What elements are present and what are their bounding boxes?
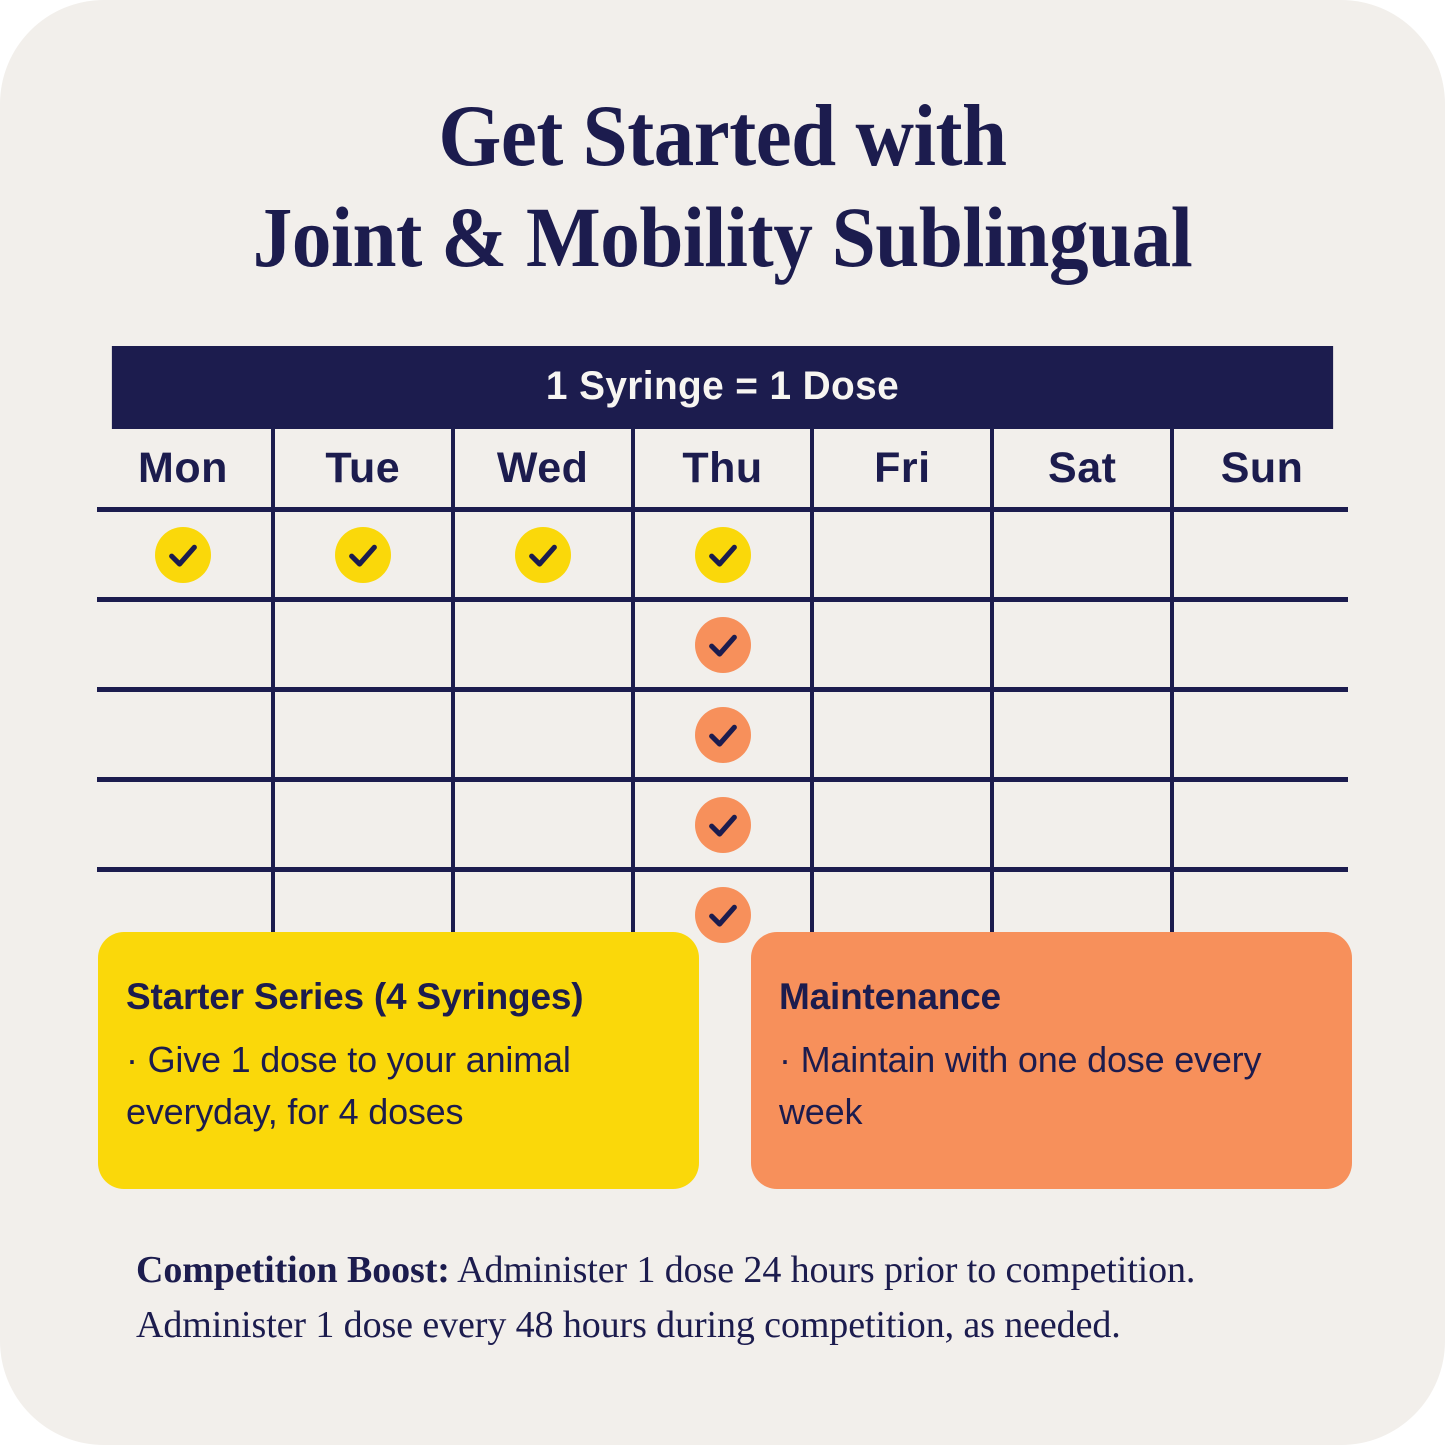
check-icon: [346, 538, 380, 572]
dose-cell-mon-week3[interactable]: [93, 692, 273, 777]
dose-cell-sat-week4[interactable]: [992, 782, 1172, 867]
check-icon: [166, 538, 200, 572]
maintenance-dose-badge: [695, 797, 751, 853]
day-header-label: Thu: [682, 444, 762, 493]
title-line-2: Joint & Mobility Sublingual: [58, 188, 1387, 288]
dose-cell-thu-week3[interactable]: [633, 692, 813, 777]
starter-dose-badge: [155, 527, 211, 583]
dose-cell-sun-week1[interactable]: [1172, 512, 1352, 597]
table-row: [93, 692, 1352, 777]
day-header-wed: Wed: [453, 429, 633, 507]
dose-cell-fri-week4[interactable]: [812, 782, 992, 867]
starter-dose-badge: [695, 527, 751, 583]
day-header-thu: Thu: [633, 429, 813, 507]
dose-cell-tue-week4[interactable]: [273, 782, 453, 867]
table-row: [93, 782, 1352, 867]
dose-cell-mon-week4[interactable]: [93, 782, 273, 867]
check-icon: [706, 718, 740, 752]
maintenance-callout-title: Maintenance: [779, 976, 1318, 1018]
infographic-card: Get Started with Joint & Mobility Sublin…: [0, 0, 1445, 1445]
table-body: [93, 512, 1352, 957]
day-header-label: Wed: [497, 444, 589, 493]
dose-cell-sat-week1[interactable]: [992, 512, 1172, 597]
starter-callout: Starter Series (4 Syringes)· Give 1 dose…: [98, 932, 699, 1189]
page-title: Get Started with Joint & Mobility Sublin…: [0, 0, 1445, 288]
title-line-1: Get Started with: [58, 86, 1387, 188]
dose-cell-tue-week3[interactable]: [273, 692, 453, 777]
maintenance-dose-badge: [695, 617, 751, 673]
dose-cell-mon-week1[interactable]: [93, 512, 273, 597]
syringe-banner: 1 Syringe = 1 Dose: [112, 346, 1333, 429]
table-row: [93, 602, 1352, 687]
dose-cell-tue-week1[interactable]: [273, 512, 453, 597]
callout-row: Starter Series (4 Syringes)· Give 1 dose…: [98, 932, 1352, 1189]
dose-cell-sun-week3[interactable]: [1172, 692, 1352, 777]
dose-cell-thu-week1[interactable]: [633, 512, 813, 597]
day-header-label: Sun: [1221, 444, 1304, 493]
dose-cell-wed-week2[interactable]: [453, 602, 633, 687]
day-header-label: Tue: [325, 444, 400, 493]
day-header-label: Fri: [874, 444, 930, 493]
maintenance-dose-badge: [695, 707, 751, 763]
dose-cell-thu-week4[interactable]: [633, 782, 813, 867]
dose-cell-wed-week1[interactable]: [453, 512, 633, 597]
starter-callout-title: Starter Series (4 Syringes): [126, 976, 665, 1018]
check-icon: [706, 808, 740, 842]
competition-boost-label: Competition Boost:: [136, 1249, 450, 1291]
dose-cell-fri-week3[interactable]: [812, 692, 992, 777]
dose-cell-wed-week4[interactable]: [453, 782, 633, 867]
maintenance-callout: Maintenance· Maintain with one dose ever…: [751, 932, 1352, 1189]
day-header-sun: Sun: [1172, 429, 1352, 507]
check-icon: [706, 898, 740, 932]
starter-callout-body: · Give 1 dose to your animal everyday, f…: [126, 1034, 665, 1138]
maintenance-callout-body: · Maintain with one dose every week: [779, 1034, 1318, 1138]
dose-cell-mon-week2[interactable]: [93, 602, 273, 687]
competition-boost-note: Competition Boost: Administer 1 dose 24 …: [136, 1243, 1276, 1353]
dose-cell-sat-week2[interactable]: [992, 602, 1172, 687]
day-header-label: Sat: [1048, 444, 1116, 493]
dose-cell-fri-week2[interactable]: [812, 602, 992, 687]
starter-dose-badge: [515, 527, 571, 583]
day-header-tue: Tue: [273, 429, 453, 507]
dose-cell-sat-week3[interactable]: [992, 692, 1172, 777]
dosing-schedule-table: 1 Syringe = 1 Dose MonTueWedThuFriSatSun: [93, 346, 1352, 957]
day-header-label: Mon: [138, 444, 228, 493]
day-header-fri: Fri: [812, 429, 992, 507]
table-header-row: MonTueWedThuFriSatSun: [93, 429, 1352, 507]
day-header-sat: Sat: [992, 429, 1172, 507]
dose-cell-wed-week3[interactable]: [453, 692, 633, 777]
check-icon: [706, 538, 740, 572]
dose-cell-sun-week4[interactable]: [1172, 782, 1352, 867]
day-header-mon: Mon: [93, 429, 273, 507]
table-row: [93, 512, 1352, 597]
dose-cell-sun-week2[interactable]: [1172, 602, 1352, 687]
check-icon: [526, 538, 560, 572]
dose-cell-thu-week2[interactable]: [633, 602, 813, 687]
check-icon: [706, 628, 740, 662]
dose-cell-tue-week2[interactable]: [273, 602, 453, 687]
dose-cell-fri-week1[interactable]: [812, 512, 992, 597]
starter-dose-badge: [335, 527, 391, 583]
